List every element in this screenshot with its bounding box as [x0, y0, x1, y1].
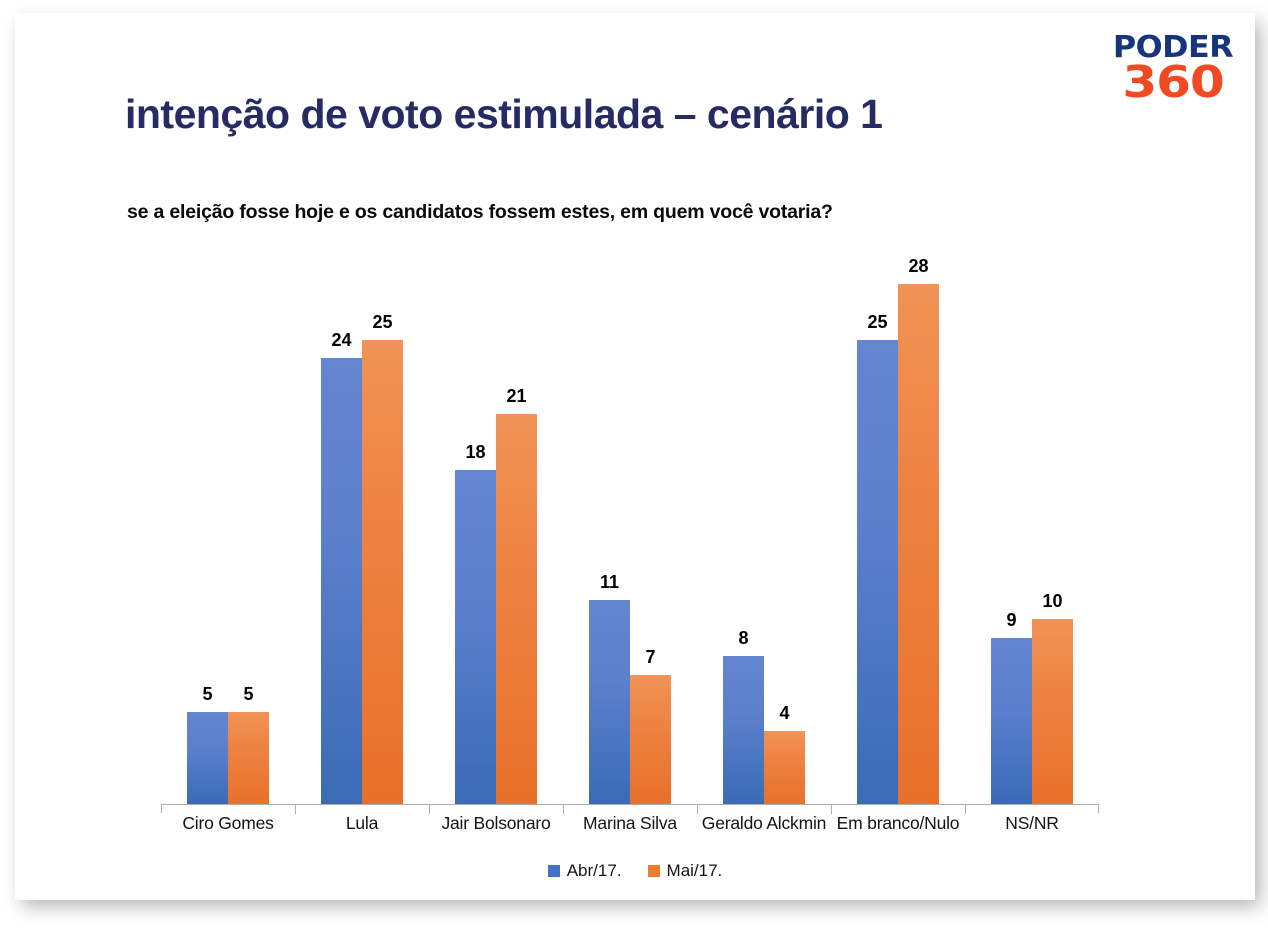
bar-pair: 910 — [991, 619, 1073, 805]
bar-Abr17-JairBolsonaro[interactable]: 18 — [455, 470, 496, 805]
bar-pair: 117 — [589, 600, 671, 805]
bar-value-label: 9 — [1006, 611, 1016, 629]
bar-Mai17-JairBolsonaro[interactable]: 21 — [496, 414, 537, 805]
x-axis-line — [161, 804, 1099, 805]
bar-Abr17-MarinaSilva[interactable]: 11 — [589, 600, 630, 805]
poder360-logo: PODER 360 — [1111, 33, 1235, 103]
chart-plot-area: 5524251821117842528910 — [161, 253, 1099, 805]
legend-item-Mai17[interactable]: Mai/17. — [648, 861, 723, 881]
bar-value-label: 7 — [645, 648, 655, 666]
bar-group: 2528 — [831, 253, 965, 805]
legend-item-Abr17[interactable]: Abr/17. — [548, 861, 622, 881]
legend-swatch-icon — [648, 865, 660, 877]
bar-pair: 1821 — [455, 414, 537, 805]
bar-value-label: 21 — [506, 387, 526, 405]
bar-value-label: 18 — [465, 443, 485, 461]
bar-Abr17-EmbrancoNulo[interactable]: 25 — [857, 340, 898, 805]
bar-groups: 5524251821117842528910 — [161, 253, 1099, 805]
bar-pair: 55 — [187, 712, 269, 805]
x-axis-label-MarinaSilva: Marina Silva — [563, 813, 697, 834]
bar-group: 910 — [965, 253, 1099, 805]
logo-360-text: 360 — [1102, 63, 1243, 103]
bar-Abr17-CiroGomes[interactable]: 5 — [187, 712, 228, 805]
bar-Mai17-EmbrancoNulo[interactable]: 28 — [898, 284, 939, 805]
legend-label: Abr/17. — [567, 861, 622, 881]
bar-value-label: 11 — [600, 573, 619, 591]
x-axis-label-GeraldoAlckmin: Geraldo Alckmin — [697, 813, 831, 834]
bar-group: 55 — [161, 253, 295, 805]
x-axis-category-labels: Ciro GomesLulaJair BolsonaroMarina Silva… — [161, 813, 1099, 834]
bar-value-label: 25 — [867, 313, 887, 331]
bar-value-label: 25 — [372, 313, 392, 331]
bar-value-label: 24 — [331, 331, 351, 349]
bar-value-label: 10 — [1042, 592, 1062, 610]
bar-Abr17-Lula[interactable]: 24 — [321, 358, 362, 805]
bar-Mai17-MarinaSilva[interactable]: 7 — [630, 675, 671, 805]
bar-value-label: 8 — [738, 629, 748, 647]
bar-pair: 84 — [723, 656, 805, 805]
bar-value-label: 5 — [243, 685, 253, 703]
slide-root: PODER 360 intenção de voto estimulada – … — [0, 0, 1268, 950]
bar-group: 84 — [697, 253, 831, 805]
chart-legend: Abr/17.Mai/17. — [15, 861, 1255, 881]
x-axis-label-Lula: Lula — [295, 813, 429, 834]
bar-Abr17-NSNR[interactable]: 9 — [991, 638, 1032, 805]
bar-group: 1821 — [429, 253, 563, 805]
bar-pair: 2528 — [857, 284, 939, 805]
bar-value-label: 28 — [908, 257, 928, 275]
legend-swatch-icon — [548, 865, 560, 877]
slide-canvas: PODER 360 intenção de voto estimulada – … — [15, 13, 1255, 900]
bar-Mai17-NSNR[interactable]: 10 — [1032, 619, 1073, 805]
bar-group: 2425 — [295, 253, 429, 805]
bar-value-label: 4 — [779, 704, 789, 722]
bar-Mai17-CiroGomes[interactable]: 5 — [228, 712, 269, 805]
bar-value-label: 5 — [202, 685, 212, 703]
page-subtitle: se a eleição fosse hoje e os candidatos … — [127, 201, 833, 224]
x-axis-label-NSNR: NS/NR — [965, 813, 1099, 834]
bar-group: 117 — [563, 253, 697, 805]
bar-Mai17-Lula[interactable]: 25 — [362, 340, 403, 805]
bar-Abr17-GeraldoAlckmin[interactable]: 8 — [723, 656, 764, 805]
x-axis-label-EmbrancoNulo: Em branco/Nulo — [831, 813, 965, 834]
x-axis-label-JairBolsonaro: Jair Bolsonaro — [429, 813, 563, 834]
x-axis-label-CiroGomes: Ciro Gomes — [161, 813, 295, 834]
bar-Mai17-GeraldoAlckmin[interactable]: 4 — [764, 731, 805, 805]
page-title: intenção de voto estimulada – cenário 1 — [125, 91, 882, 138]
legend-label: Mai/17. — [667, 861, 723, 881]
bar-pair: 2425 — [321, 340, 403, 805]
